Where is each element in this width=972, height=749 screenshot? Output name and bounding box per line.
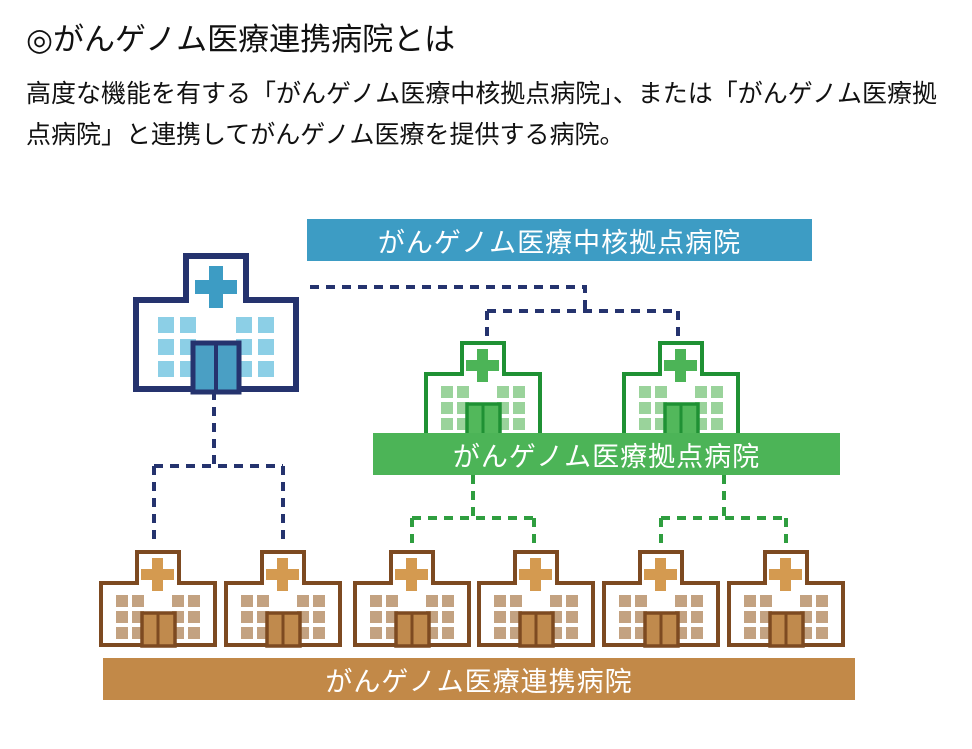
hospital-icon-link-2 xyxy=(226,552,340,646)
hospital-icon-core xyxy=(136,256,296,392)
connector-core-to-link xyxy=(154,466,283,545)
hospital-icon-link-6 xyxy=(729,552,843,646)
banner-hub-hospital: がんゲノム医療拠点病院 xyxy=(373,433,840,475)
banner-link-hospital: がんゲノム医療連携病院 xyxy=(103,658,855,700)
banner-core-hospital: がんゲノム医療中核拠点病院 xyxy=(307,219,812,261)
hospital-icon-link-5 xyxy=(604,552,718,646)
connector-hub-to-link xyxy=(412,475,786,545)
hospital-icon-link-4 xyxy=(479,552,593,646)
banner-hub-label: がんゲノム医療拠点病院 xyxy=(453,435,760,474)
hospital-icon-link-1 xyxy=(101,552,215,646)
hospital-icon-hub-1 xyxy=(426,343,540,438)
slide-page: ◎がんゲノム医療連携病院とは 高度な機能を有する「がんゲノム医療中核拠点病院」、… xyxy=(0,0,972,749)
hospital-icon-hub-2 xyxy=(624,343,738,438)
banner-link-label: がんゲノム医療連携病院 xyxy=(325,660,632,699)
banner-core-label: がんゲノム医療中核拠点病院 xyxy=(378,221,741,260)
page-title: ◎がんゲノム医療連携病院とは xyxy=(26,14,455,59)
page-description: 高度な機能を有する「がんゲノム医療中核拠点病院」、または「がんゲノム医療拠点病院… xyxy=(26,74,946,155)
hospital-icon-link-3 xyxy=(355,552,469,646)
